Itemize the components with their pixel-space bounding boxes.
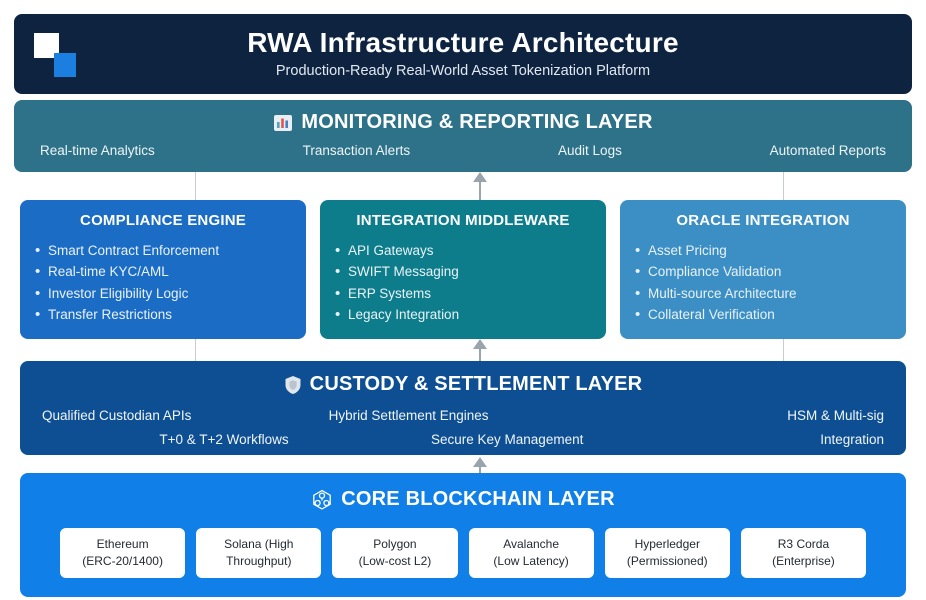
shield-icon [284,375,302,395]
list-item: API Gateways [334,240,592,261]
blockchain-network-icon [311,489,333,511]
chain-chip-solana[interactable]: Solana (High Throughput) [196,528,321,578]
page-title: RWA Infrastructure Architecture [247,28,678,59]
connector-line-compliance [195,172,196,200]
connector-line-compliance-custody [195,339,196,361]
custody-features-row: Qualified Custodian APIs T+0 & T+2 Workf… [42,406,884,450]
custody-column-2: HSM & Multi-sig Integration [603,406,884,450]
monitoring-reporting-layer: MONITORING & REPORTING LAYER Real-time A… [14,100,912,172]
monitoring-feature-3: Automated Reports [770,143,886,158]
chain-detail: (Low-cost L2) [336,553,453,570]
custody-column-1: Hybrid Settlement Engines Secure Key Man… [323,406,604,450]
chain-name: R3 Corda [778,537,829,551]
chain-name: Solana (High [224,537,293,551]
chain-name: Polygon [373,537,416,551]
custody-feature-1-line1: Hybrid Settlement Engines [323,406,604,426]
connector-band-columns-custody [14,339,912,361]
connector-stem-middleware-custody [479,348,481,361]
chain-name: Avalanche [503,537,559,551]
chain-detail: (Low Latency) [473,553,590,570]
list-item: Multi-source Architecture [634,283,892,304]
column-compliance-engine: COMPLIANCE ENGINE Smart Contract Enforce… [20,200,306,339]
list-item: Transfer Restrictions [34,304,292,325]
custody-layer-title-row: CUSTODY & SETTLEMENT LAYER [42,373,884,396]
monitoring-features-list: Real-time Analytics Transaction Alerts A… [32,143,894,158]
column-oracle-integration: ORACLE INTEGRATION Asset Pricing Complia… [620,200,906,339]
list-item: Collateral Verification [634,304,892,325]
list-item: Smart Contract Enforcement [34,240,292,261]
custody-column-0: Qualified Custodian APIs T+0 & T+2 Workf… [42,406,323,450]
custody-feature-2-line1: HSM & Multi-sig [603,406,884,426]
column-integration-middleware: INTEGRATION MIDDLEWARE API Gateways SWIF… [320,200,606,339]
connector-band-monitoring-columns [14,172,912,200]
chain-name: Ethereum [97,537,149,551]
chain-chip-ethereum[interactable]: Ethereum (ERC-20/1400) [60,528,185,578]
bar-chart-icon [273,113,293,133]
logo-square-blue [54,53,76,77]
chain-detail: Throughput) [200,553,317,570]
chain-detail: (Enterprise) [745,553,862,570]
chain-chip-hyperledger[interactable]: Hyperledger (Permissioned) [605,528,730,578]
column-compliance-title: COMPLIANCE ENGINE [34,212,292,229]
chain-chip-r3corda[interactable]: R3 Corda (Enterprise) [741,528,866,578]
core-blockchain-layer: CORE BLOCKCHAIN LAYER Ethereum (ERC-20/1… [20,473,906,597]
list-item: Compliance Validation [634,261,892,282]
chain-detail: (Permissioned) [609,553,726,570]
monitoring-feature-2: Audit Logs [558,143,622,158]
column-middleware-items: API Gateways SWIFT Messaging ERP Systems… [334,240,592,325]
connector-stem-middleware [479,181,481,200]
list-item: SWIFT Messaging [334,261,592,282]
custody-feature-0-line2: T+0 & T+2 Workflows [42,430,323,450]
monitoring-feature-0: Real-time Analytics [40,143,155,158]
custody-feature-2-line2: Integration [603,430,884,450]
list-item: Asset Pricing [634,240,892,261]
brand-logo-icon [31,30,83,80]
header-banner: RWA Infrastructure Architecture Producti… [14,14,912,94]
custody-feature-1-line2: Secure Key Management [323,430,604,450]
connector-line-oracle-custody [783,339,784,361]
list-item: Legacy Integration [334,304,592,325]
list-item: Investor Eligibility Logic [34,283,292,304]
custody-settlement-layer: CUSTODY & SETTLEMENT LAYER Qualified Cus… [20,361,906,455]
architecture-diagram: RWA Infrastructure Architecture Producti… [0,0,926,600]
list-item: Real-time KYC/AML [34,261,292,282]
chain-chip-avalanche[interactable]: Avalanche (Low Latency) [469,528,594,578]
column-oracle-title: ORACLE INTEGRATION [634,212,892,229]
monitoring-layer-title: MONITORING & REPORTING LAYER [301,111,652,134]
connector-band-custody-core [14,455,912,473]
column-compliance-items: Smart Contract Enforcement Real-time KYC… [34,240,292,325]
list-item: ERP Systems [334,283,592,304]
custody-layer-title: CUSTODY & SETTLEMENT LAYER [310,373,643,396]
blockchain-chips-row: Ethereum (ERC-20/1400) Solana (High Thro… [38,528,888,578]
chain-chip-polygon[interactable]: Polygon (Low-cost L2) [332,528,457,578]
core-layer-title: CORE BLOCKCHAIN LAYER [341,488,614,511]
page-subtitle: Production-Ready Real-World Asset Tokeni… [276,64,650,80]
chain-name: Hyperledger [635,537,700,551]
monitoring-feature-1: Transaction Alerts [303,143,411,158]
connector-line-oracle [783,172,784,200]
chain-detail: (ERC-20/1400) [64,553,181,570]
column-middleware-title: INTEGRATION MIDDLEWARE [334,212,592,229]
monitoring-layer-title-row: MONITORING & REPORTING LAYER [32,111,894,134]
middle-columns-row: COMPLIANCE ENGINE Smart Contract Enforce… [14,200,912,339]
core-layer-title-row: CORE BLOCKCHAIN LAYER [38,488,888,511]
custody-feature-0-line1: Qualified Custodian APIs [42,406,323,426]
column-oracle-items: Asset Pricing Compliance Validation Mult… [634,240,892,325]
